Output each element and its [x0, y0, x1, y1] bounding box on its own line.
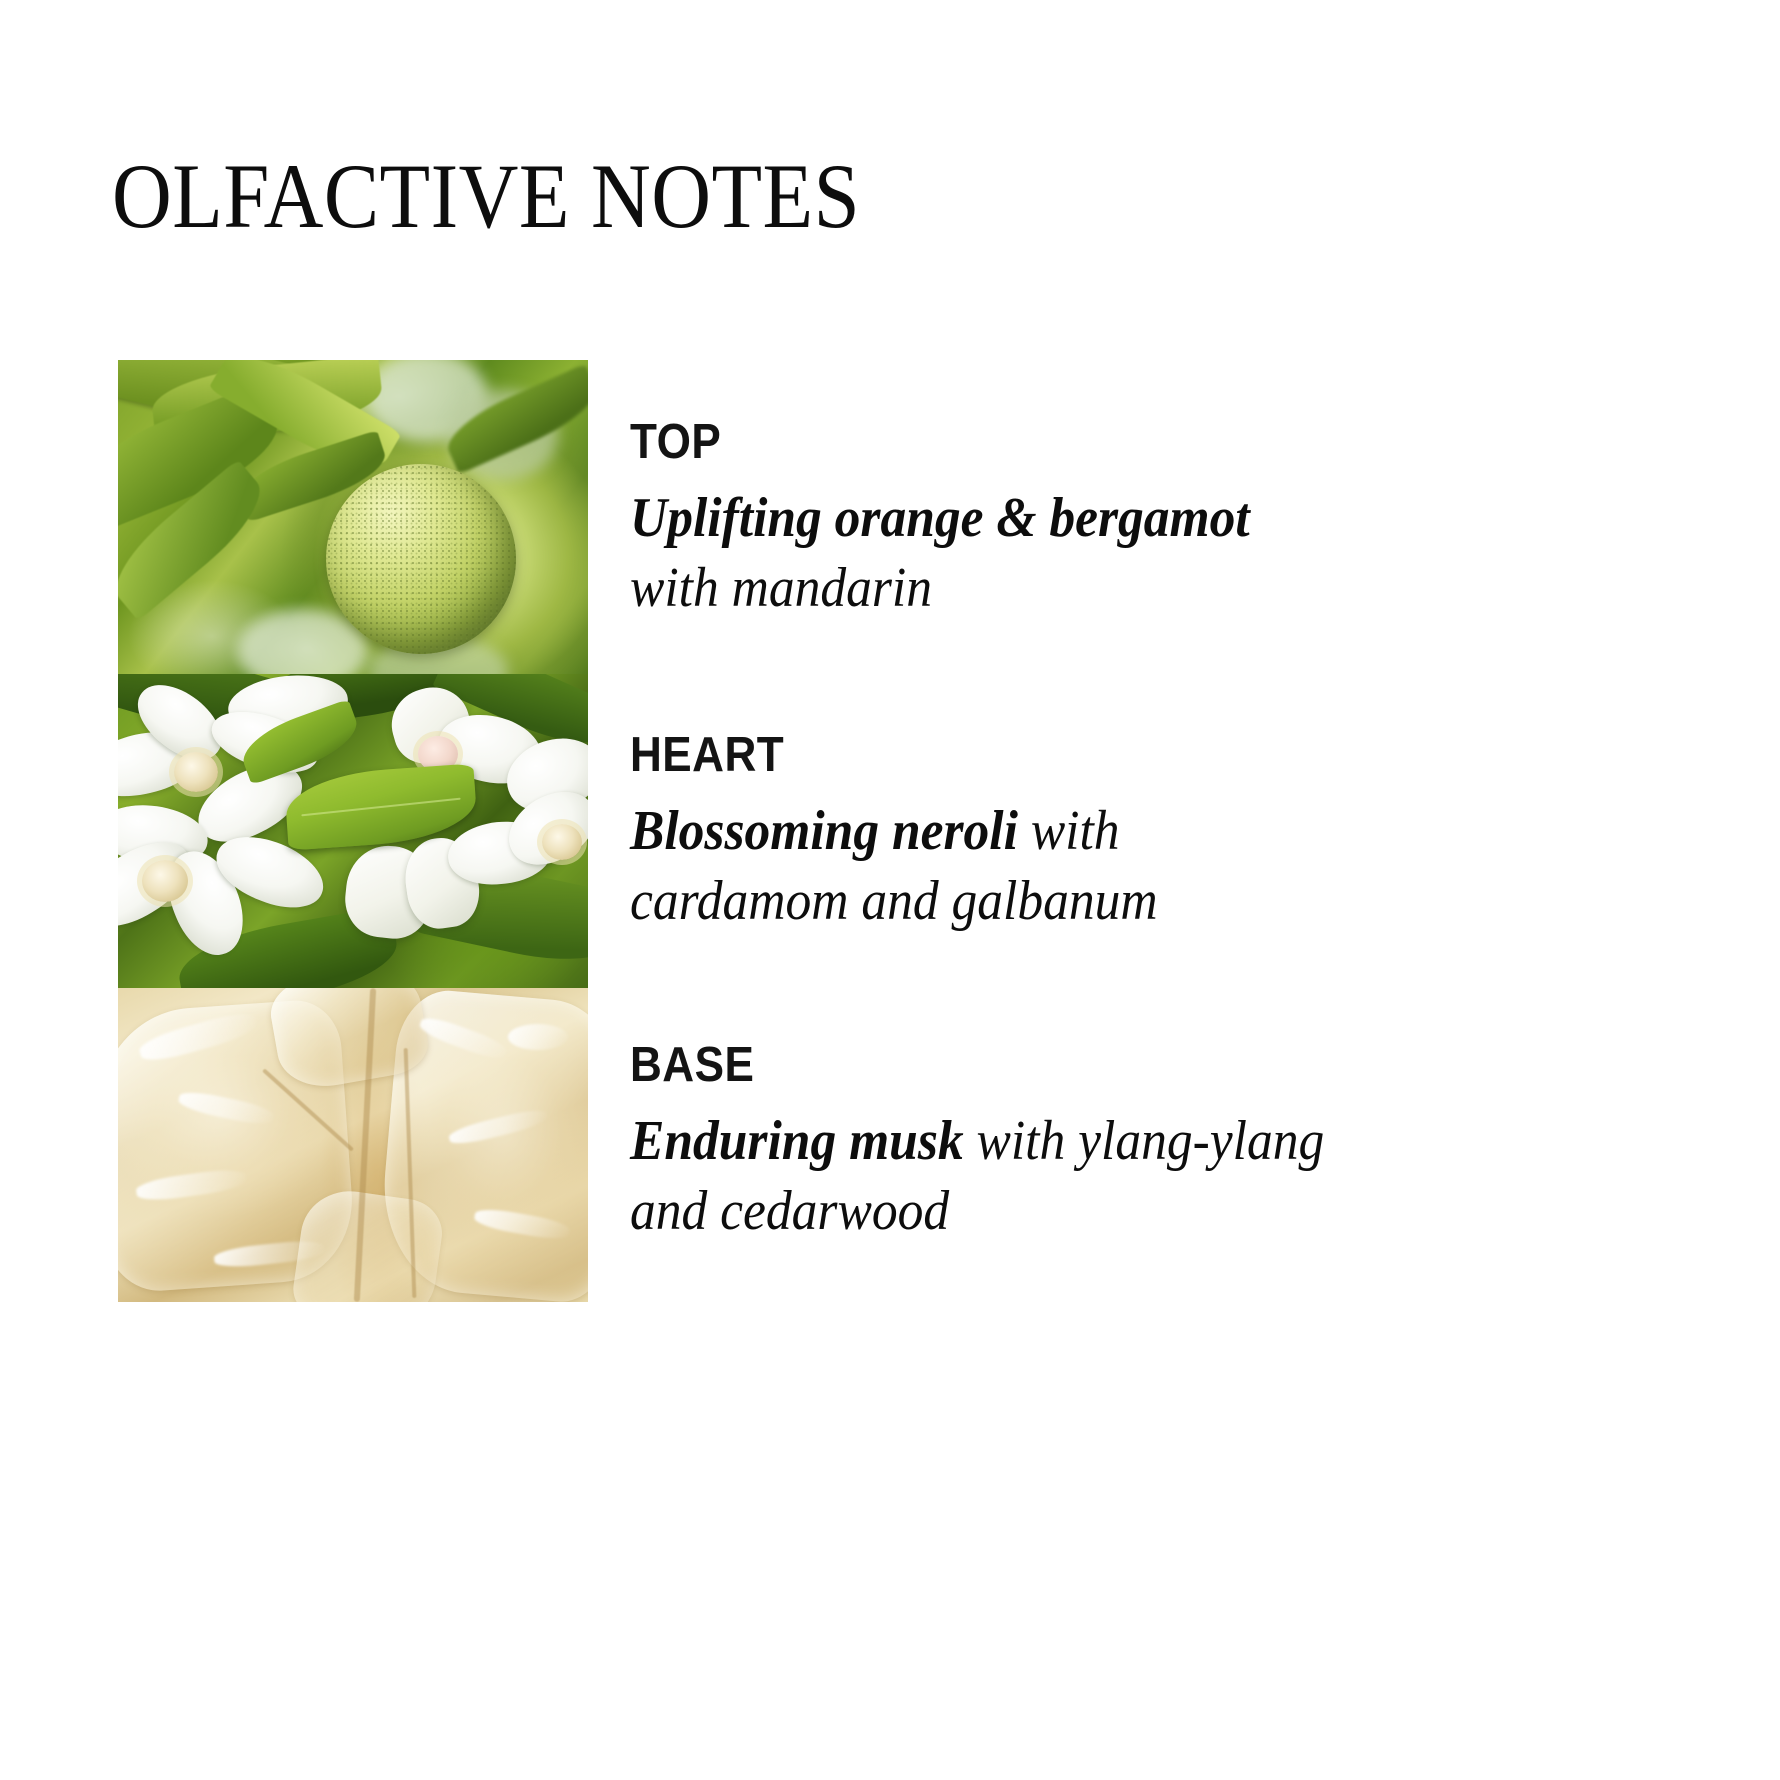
amber-resin-crystals-photo: [118, 988, 588, 1302]
olfactive-note-top: TOP Uplifting orange & bergamot with man…: [630, 418, 1460, 623]
ingredient-image-column: [118, 360, 588, 1302]
blossom-center: [142, 860, 188, 902]
note-description-heart: Blossoming neroli with cardamom and galb…: [630, 796, 1348, 936]
resin-glint: [508, 1024, 568, 1050]
blossom-center: [542, 824, 582, 860]
orange-blossom-photo: [118, 674, 588, 988]
note-label-heart: HEART: [630, 731, 1377, 780]
olfactive-note-heart: HEART Blossoming neroli with cardamom an…: [630, 731, 1460, 936]
blossom-leaf: [284, 763, 479, 850]
note-label-base: BASE: [630, 1041, 1377, 1090]
olfactive-note-base: BASE Enduring musk with ylang-ylang and …: [630, 1041, 1460, 1246]
note-lead-top: Uplifting orange & bergamot: [630, 487, 1250, 549]
note-tail-top: with mandarin: [630, 557, 932, 619]
blossom-center: [174, 752, 218, 792]
note-lead-base: Enduring musk: [630, 1110, 964, 1172]
note-description-base: Enduring musk with ylang-ylang and cedar…: [630, 1106, 1348, 1246]
note-description-top: Uplifting orange & bergamot with mandari…: [630, 483, 1348, 623]
green-citrus-fruit-photo: [118, 360, 588, 674]
citrus-fruit: [326, 464, 516, 654]
note-label-top: TOP: [630, 418, 1377, 467]
note-lead-heart: Blossoming neroli: [630, 800, 1018, 862]
page-title: OLFACTIVE NOTES: [112, 150, 860, 242]
